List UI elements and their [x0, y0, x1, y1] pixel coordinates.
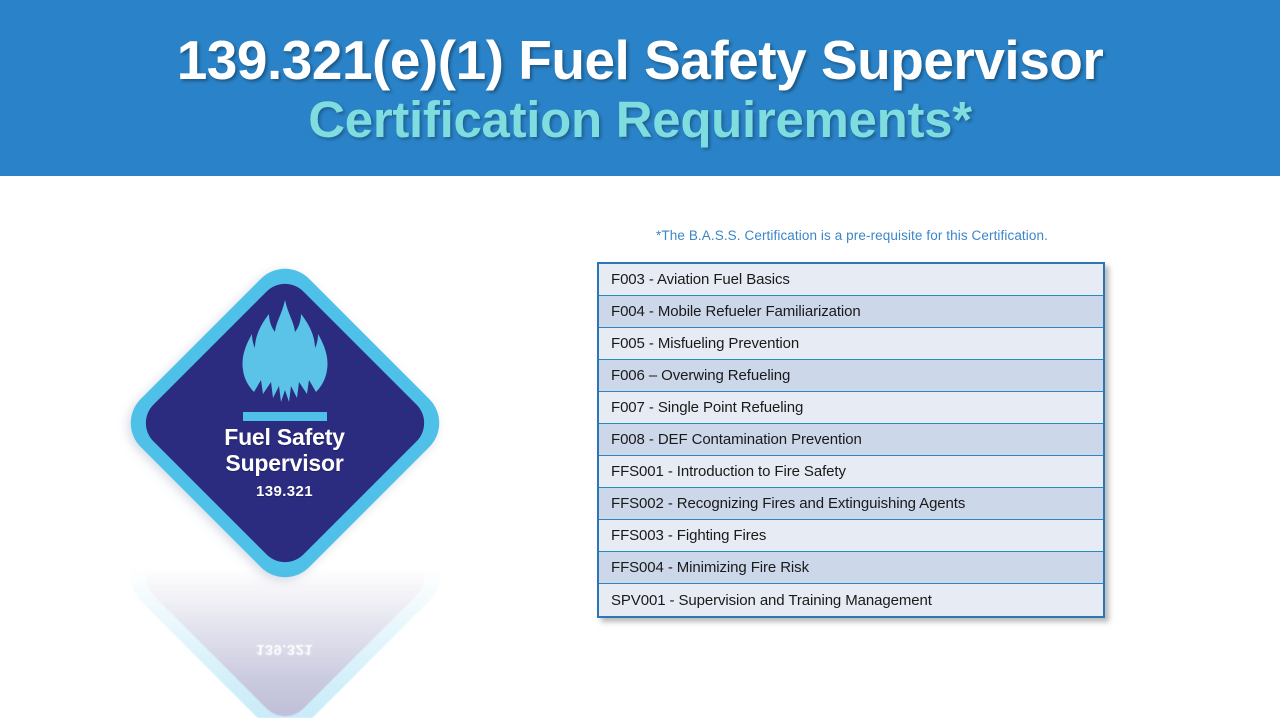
course-row[interactable]: F004 - Mobile Refueler Familiarization — [599, 296, 1103, 328]
course-row[interactable]: F007 - Single Point Refueling — [599, 392, 1103, 424]
badge-title-line-2: Supervisor — [225, 451, 343, 477]
course-row[interactable]: FFS002 - Recognizing Fires and Extinguis… — [599, 488, 1103, 520]
badge-code: 139.321 — [256, 483, 313, 500]
course-label: FFS004 - Minimizing Fire Risk — [611, 559, 809, 576]
course-row[interactable]: SPV001 - Supervision and Training Manage… — [599, 584, 1103, 616]
course-requirements-table: F003 - Aviation Fuel BasicsF004 - Mobile… — [597, 262, 1105, 618]
page-title-line-1: 139.321(e)(1) Fuel Safety Supervisor — [177, 31, 1104, 89]
badge-content: Fuel Safety Supervisor 139.321 — [112, 250, 457, 595]
course-label: F007 - Single Point Refueling — [611, 399, 803, 416]
prerequisite-note: *The B.A.S.S. Certification is a pre-req… — [597, 228, 1107, 243]
badge-area: Fuel Safety Supervisor 139.321 139.321 — [112, 250, 472, 710]
course-label: SPV001 - Supervision and Training Manage… — [611, 592, 932, 609]
course-row[interactable]: F006 – Overwing Refueling — [599, 360, 1103, 392]
badge-title-line-1: Fuel Safety — [224, 425, 345, 451]
page-title-line-2: Certification Requirements* — [308, 92, 972, 147]
course-row[interactable]: FFS003 - Fighting Fires — [599, 520, 1103, 552]
course-label: F006 – Overwing Refueling — [611, 367, 790, 384]
course-row[interactable]: F003 - Aviation Fuel Basics — [599, 264, 1103, 296]
flame-icon — [237, 298, 333, 406]
course-label: F008 - DEF Contamination Prevention — [611, 431, 862, 448]
reflection-badge-code: 139.321 — [112, 641, 457, 658]
course-row[interactable]: FFS004 - Minimizing Fire Risk — [599, 552, 1103, 584]
course-label: FFS001 - Introduction to Fire Safety — [611, 463, 846, 480]
course-label: F005 - Misfueling Prevention — [611, 335, 799, 352]
course-label: FFS003 - Fighting Fires — [611, 527, 766, 544]
course-row[interactable]: FFS001 - Introduction to Fire Safety — [599, 456, 1103, 488]
course-label: F003 - Aviation Fuel Basics — [611, 271, 790, 288]
certification-badge: Fuel Safety Supervisor 139.321 — [112, 250, 457, 595]
course-row[interactable]: F005 - Misfueling Prevention — [599, 328, 1103, 360]
course-label: F004 - Mobile Refueler Familiarization — [611, 303, 861, 320]
course-row[interactable]: F008 - DEF Contamination Prevention — [599, 424, 1103, 456]
header-banner: 139.321(e)(1) Fuel Safety Supervisor Cer… — [0, 0, 1280, 176]
badge-divider-bar — [243, 412, 327, 421]
course-label: FFS002 - Recognizing Fires and Extinguis… — [611, 495, 965, 512]
